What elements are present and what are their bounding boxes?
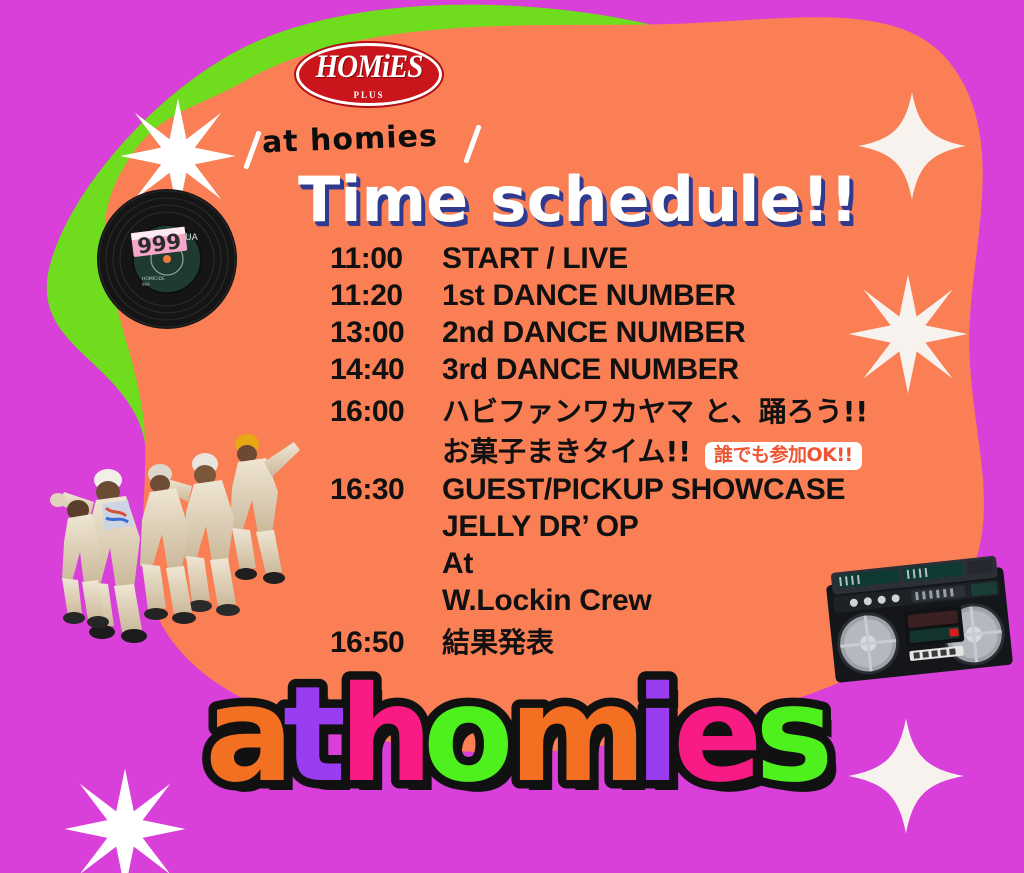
wordmark-letter: s: [755, 658, 834, 812]
vinyl-record-image: 999 UA HOMICIDE 999: [96, 188, 238, 330]
row-time: 11:20: [330, 279, 442, 313]
row-desc: お菓子まきタイム!!: [442, 430, 691, 470]
table-row: 11:00 START / LIVE: [330, 242, 950, 276]
row-desc: 3rd DANCE NUMBER: [442, 353, 739, 387]
wordmark-letter: a: [205, 658, 294, 812]
wordmark-letter: t: [283, 658, 346, 812]
table-row: 14:40 3rd DANCE NUMBER: [330, 353, 950, 387]
row-time: 16:30: [330, 473, 442, 507]
wordmark-letter: e: [673, 658, 763, 812]
row-time: 16:50: [330, 626, 442, 660]
row-desc: JELLY DR’ OP: [442, 510, 638, 544]
table-row: 16:00 ハビファンワカヤマ と、踊ろう!!: [330, 390, 950, 430]
row-desc: At: [442, 547, 473, 581]
table-row: 13:00 2nd DANCE NUMBER: [330, 316, 950, 350]
sparkle-bottom-right-icon: [846, 714, 966, 838]
table-row: 16:30 GUEST/PICKUP SHOWCASE: [330, 473, 950, 507]
row-time: 13:00: [330, 316, 442, 350]
dancers-photo: [42, 422, 334, 652]
row-desc: W.Lockin Crew: [442, 584, 651, 618]
row-desc: GUEST/PICKUP SHOWCASE: [442, 473, 845, 507]
page-title: Time schedule!!: [298, 163, 858, 236]
row-desc: 1st DANCE NUMBER: [442, 279, 736, 313]
table-row: お菓子まきタイム!! 誰でも参加OK!!: [330, 430, 950, 470]
table-row: JELLY DR’ OP: [330, 510, 950, 544]
kicker-at-homies: at homies: [261, 119, 438, 161]
poster-canvas: HOMiES PLUS 999 UA HOMICIDE 999 at homi: [0, 0, 1024, 873]
row-time: 11:00: [330, 242, 442, 276]
svg-text:UA: UA: [185, 233, 199, 243]
homies-plus-logo: HOMiES PLUS: [296, 43, 442, 106]
wordmark-letter: h: [339, 658, 433, 812]
boombox-image: [820, 551, 1018, 690]
logo-subtext: PLUS: [296, 90, 442, 100]
status-badge: 誰でも参加OK!!: [705, 442, 862, 470]
wordmark-letter: m: [509, 658, 647, 812]
row-time: 14:40: [330, 353, 442, 387]
table-row: 11:20 1st DANCE NUMBER: [330, 279, 950, 313]
row-desc: START / LIVE: [442, 242, 628, 276]
row-desc: 結果発表: [442, 621, 554, 661]
logo-wordmark: HOMiES: [296, 49, 442, 86]
sparkle-bottom-left-icon: [60, 766, 190, 873]
svg-text:999: 999: [142, 282, 150, 287]
row-time: 16:00: [330, 395, 442, 429]
row-desc: ハビファンワカヤマ と、踊ろう!!: [442, 390, 868, 430]
wordmark-letter: o: [423, 658, 514, 812]
row-desc: 2nd DANCE NUMBER: [442, 316, 746, 350]
sparkle-top-right-icon: [856, 88, 968, 204]
athomies-wordmark: a t h o m i e s a t h o m i e s a t: [205, 672, 845, 807]
